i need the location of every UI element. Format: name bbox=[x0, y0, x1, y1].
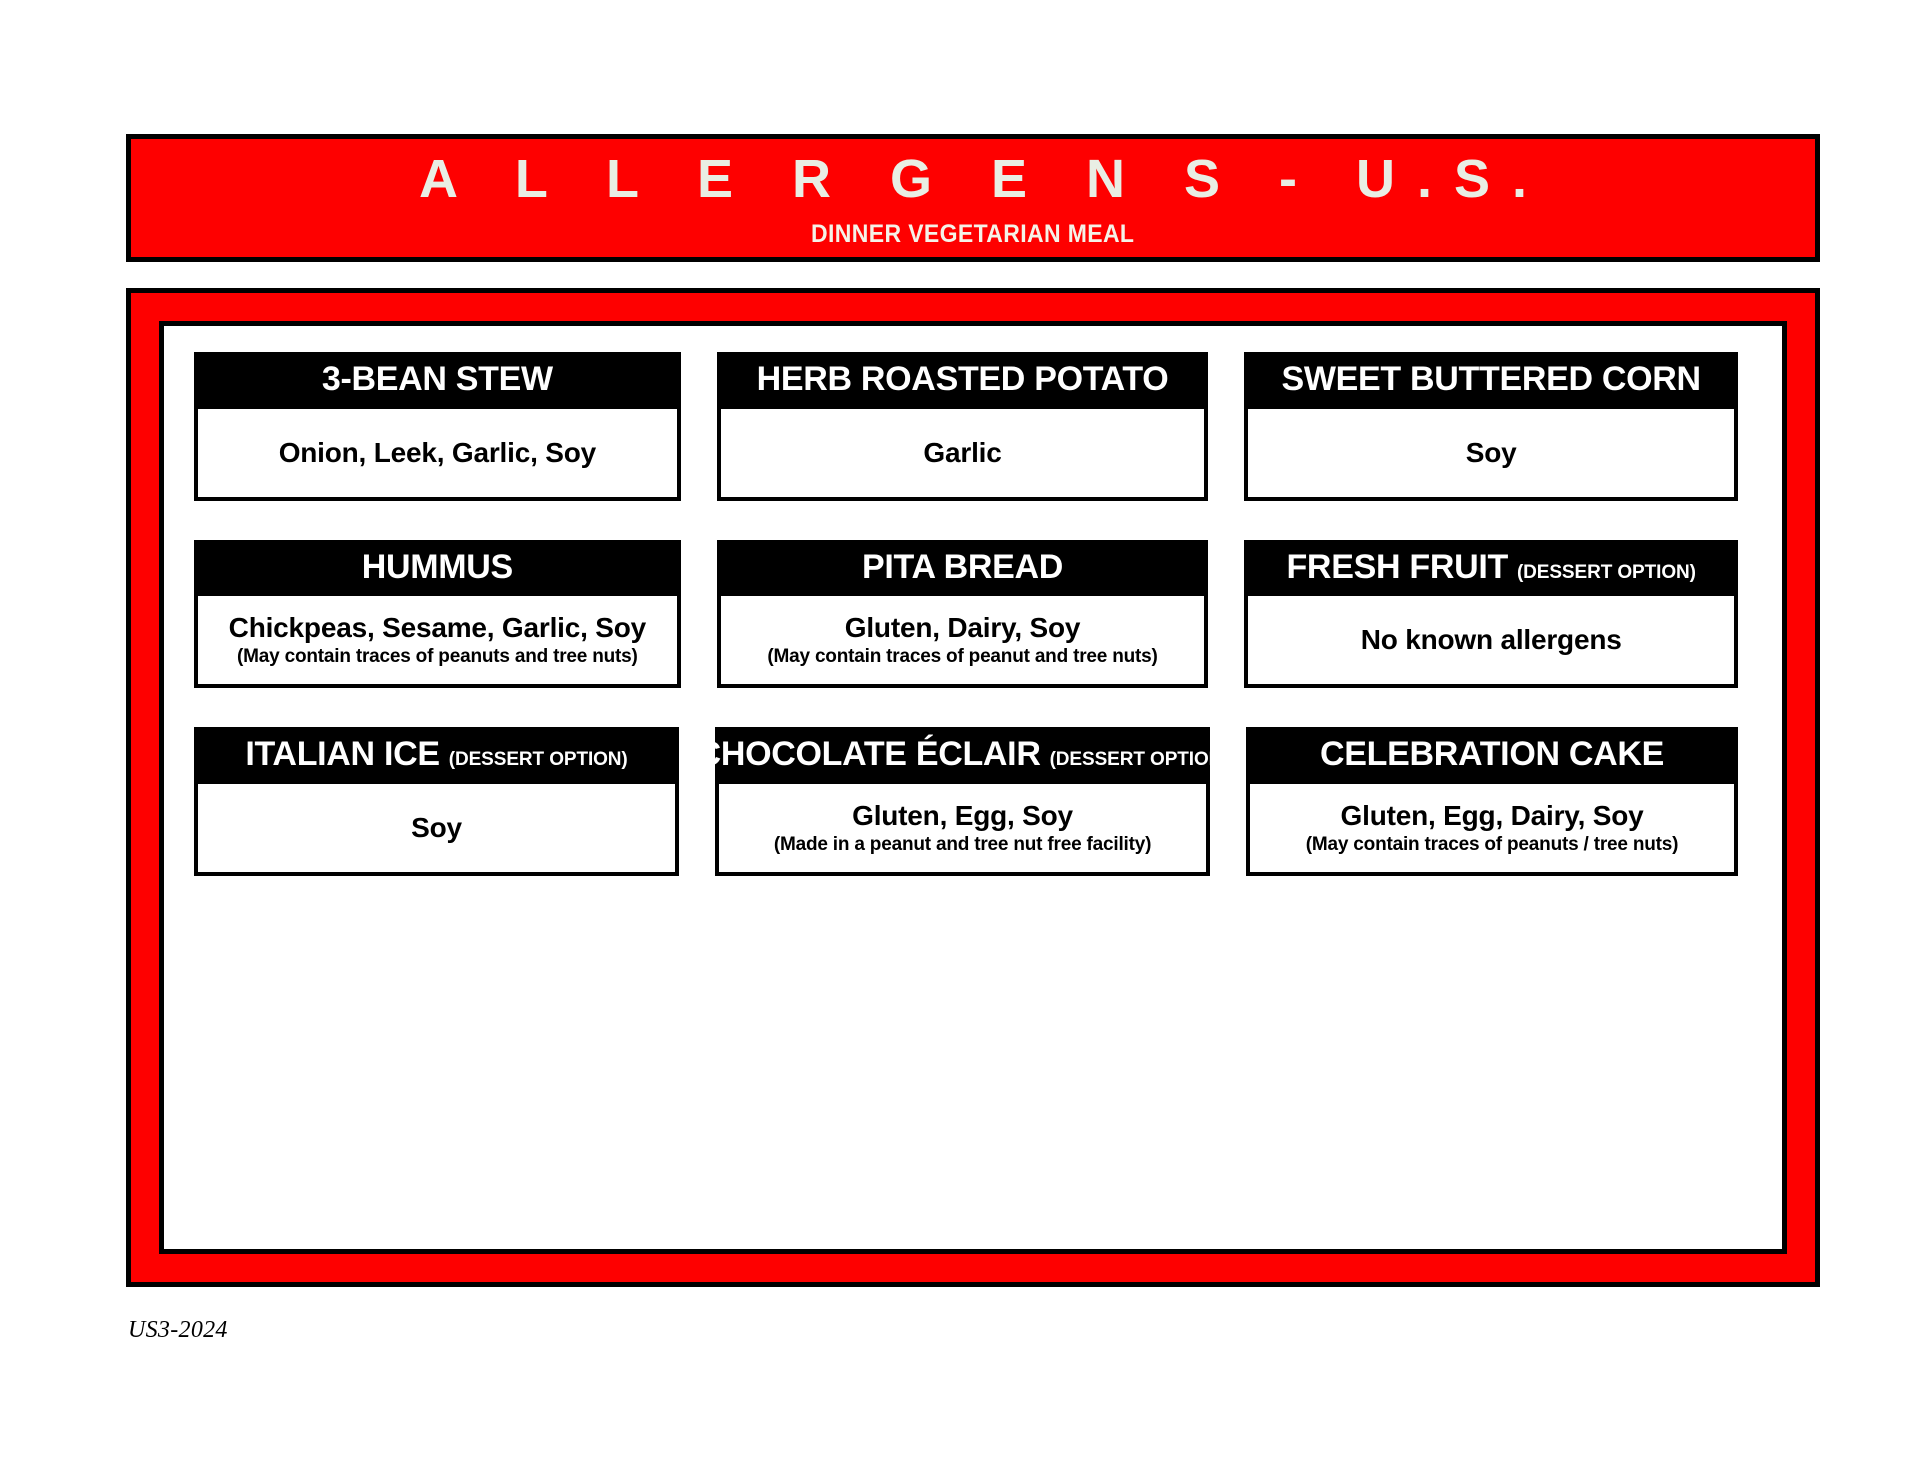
menu-card-herb-roasted-potato: HERB ROASTED POTATO Garlic bbox=[717, 352, 1209, 501]
document-code: US3-2024 bbox=[128, 1317, 228, 1344]
menu-card-pita-bread: PITA BREAD Gluten, Dairy, Soy (May conta… bbox=[717, 540, 1209, 689]
card-title: CHOCOLATE ÉCLAIR bbox=[697, 736, 1041, 773]
card-header: FRESH FRUIT (DESSERT OPTION) bbox=[1248, 544, 1734, 593]
card-body: Soy bbox=[1248, 405, 1734, 497]
allergen-list: Soy bbox=[411, 812, 462, 844]
card-title: HERB ROASTED POTATO bbox=[757, 361, 1169, 398]
content-frame: 3-BEAN STEW Onion, Leek, Garlic, Soy HER… bbox=[126, 288, 1820, 1287]
card-header: SWEET BUTTERED CORN bbox=[1248, 356, 1734, 405]
allergen-list: Soy bbox=[1466, 437, 1517, 469]
card-title: CELEBRATION CAKE bbox=[1320, 736, 1664, 773]
allergen-list: No known allergens bbox=[1361, 624, 1622, 656]
allergen-note: (May contain traces of peanut and tree n… bbox=[767, 646, 1157, 669]
card-title: HUMMUS bbox=[362, 549, 513, 586]
menu-card-celebration-cake: CELEBRATION CAKE Gluten, Egg, Dairy, Soy… bbox=[1246, 727, 1738, 876]
header-banner: A L L E R G E N S - U.S. DINNER VEGETARI… bbox=[126, 134, 1820, 262]
menu-item-grid: 3-BEAN STEW Onion, Leek, Garlic, Soy HER… bbox=[194, 352, 1738, 876]
card-title: PITA BREAD bbox=[862, 549, 1063, 586]
page-title: A L L E R G E N S - U.S. bbox=[397, 151, 1549, 208]
card-title: SWEET BUTTERED CORN bbox=[1282, 361, 1701, 398]
card-header: ITALIAN ICE (DESSERT OPTION) bbox=[198, 731, 675, 780]
card-header: HERB ROASTED POTATO bbox=[721, 356, 1205, 405]
card-body: Gluten, Egg, Dairy, Soy (May contain tra… bbox=[1250, 780, 1734, 872]
allergen-note: (May contain traces of peanuts and tree … bbox=[237, 646, 638, 669]
menu-card-sweet-buttered-corn: SWEET BUTTERED CORN Soy bbox=[1244, 352, 1738, 501]
card-body: Chickpeas, Sesame, Garlic, Soy (May cont… bbox=[198, 592, 677, 684]
menu-row-1: 3-BEAN STEW Onion, Leek, Garlic, Soy HER… bbox=[194, 352, 1738, 501]
card-header: CELEBRATION CAKE bbox=[1250, 731, 1734, 780]
menu-card-hummus: HUMMUS Chickpeas, Sesame, Garlic, Soy (M… bbox=[194, 540, 681, 689]
menu-card-chocolate-eclair: CHOCOLATE ÉCLAIR (DESSERT OPTION) Gluten… bbox=[715, 727, 1210, 876]
card-body: No known allergens bbox=[1248, 592, 1734, 684]
menu-row-3: ITALIAN ICE (DESSERT OPTION) Soy CHOCOLA… bbox=[194, 727, 1738, 876]
content-area: 3-BEAN STEW Onion, Leek, Garlic, Soy HER… bbox=[159, 321, 1787, 1254]
allergen-list: Gluten, Dairy, Soy bbox=[845, 612, 1081, 644]
allergen-list: Gluten, Egg, Dairy, Soy bbox=[1341, 800, 1644, 832]
card-title: FRESH FRUIT bbox=[1286, 549, 1507, 586]
card-header: HUMMUS bbox=[198, 544, 677, 593]
page-subtitle: DINNER VEGETARIAN MEAL bbox=[811, 220, 1134, 249]
card-option-tag: (DESSERT OPTION) bbox=[449, 749, 628, 771]
allergen-note: (Made in a peanut and tree nut free faci… bbox=[774, 834, 1151, 857]
card-option-tag: (DESSERT OPTION) bbox=[1050, 749, 1229, 771]
card-header: PITA BREAD bbox=[721, 544, 1205, 593]
menu-card-italian-ice: ITALIAN ICE (DESSERT OPTION) Soy bbox=[194, 727, 679, 876]
card-body: Gluten, Egg, Soy (Made in a peanut and t… bbox=[719, 780, 1206, 872]
card-title: 3-BEAN STEW bbox=[322, 361, 553, 398]
allergen-poster: A L L E R G E N S - U.S. DINNER VEGETARI… bbox=[0, 0, 1920, 1484]
menu-row-2: HUMMUS Chickpeas, Sesame, Garlic, Soy (M… bbox=[194, 540, 1738, 689]
allergen-list: Chickpeas, Sesame, Garlic, Soy bbox=[229, 612, 646, 644]
menu-card-3-bean-stew: 3-BEAN STEW Onion, Leek, Garlic, Soy bbox=[194, 352, 681, 501]
card-header: 3-BEAN STEW bbox=[198, 356, 677, 405]
menu-card-fresh-fruit: FRESH FRUIT (DESSERT OPTION) No known al… bbox=[1244, 540, 1738, 689]
allergen-list: Gluten, Egg, Soy bbox=[852, 800, 1073, 832]
allergen-list: Onion, Leek, Garlic, Soy bbox=[279, 437, 596, 469]
card-body: Gluten, Dairy, Soy (May contain traces o… bbox=[721, 592, 1205, 684]
card-body: Garlic bbox=[721, 405, 1205, 497]
card-body: Soy bbox=[198, 780, 675, 872]
allergen-list: Garlic bbox=[923, 437, 1001, 469]
card-body: Onion, Leek, Garlic, Soy bbox=[198, 405, 677, 497]
card-header: CHOCOLATE ÉCLAIR (DESSERT OPTION) bbox=[719, 731, 1206, 780]
allergen-note: (May contain traces of peanuts / tree nu… bbox=[1306, 834, 1679, 857]
card-title: ITALIAN ICE bbox=[245, 736, 439, 773]
card-option-tag: (DESSERT OPTION) bbox=[1517, 562, 1696, 584]
